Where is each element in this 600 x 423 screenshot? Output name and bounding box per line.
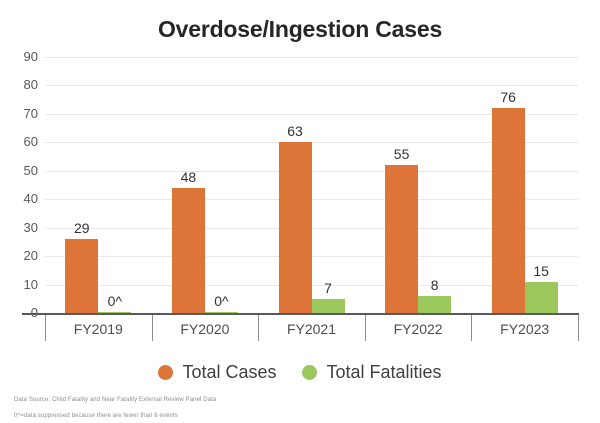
y-axis-tick-label: 10	[0, 278, 38, 291]
category-separator	[365, 315, 366, 341]
bar-total-cases-fy2020[interactable]	[172, 188, 205, 313]
category-label-fy2021: FY2021	[258, 315, 365, 343]
bar-value-label: 15	[525, 264, 558, 278]
category-separator	[152, 315, 153, 341]
legend-marker-icon	[302, 365, 317, 380]
bar-total-cases-fy2019[interactable]	[65, 239, 98, 313]
bar-value-label: 48	[172, 170, 205, 184]
overdose-ingestion-cases-chart: Overdose/Ingestion Cases 010203040506070…	[0, 0, 600, 423]
bar-value-label: 76	[492, 90, 525, 104]
legend-item-total-fatalities[interactable]: Total Fatalities	[302, 362, 441, 383]
y-axis-tick-label: 30	[0, 221, 38, 234]
category-separator	[471, 315, 472, 341]
bar-total-cases-fy2022[interactable]	[385, 165, 418, 313]
category-label-fy2019: FY2019	[45, 315, 152, 343]
gridline-90	[45, 57, 578, 58]
gridline-80	[45, 85, 578, 86]
legend-label: Total Cases	[182, 362, 276, 383]
category-separator	[258, 315, 259, 341]
y-axis-tick-label: 70	[0, 107, 38, 120]
bar-value-label: 55	[385, 147, 418, 161]
bar-value-label: 8	[418, 278, 451, 292]
y-axis-tick-label: 80	[0, 78, 38, 91]
bar-value-label: 7	[312, 281, 345, 295]
y-axis-tick-label: 20	[0, 249, 38, 262]
bar-total-fatalities-fy2022[interactable]	[418, 296, 451, 313]
category-label-fy2020: FY2020	[152, 315, 259, 343]
y-axis-tick-label: 60	[0, 135, 38, 148]
bar-total-fatalities-fy2020[interactable]	[205, 312, 238, 314]
bar-value-label: 0^	[205, 294, 238, 308]
bar-total-cases-fy2023[interactable]	[492, 108, 525, 313]
bar-value-label: 29	[65, 221, 98, 235]
bar-total-fatalities-fy2023[interactable]	[525, 282, 558, 313]
bar-total-fatalities-fy2021[interactable]	[312, 299, 345, 313]
bar-value-label: 0^	[98, 294, 131, 308]
category-separator	[578, 315, 579, 341]
bar-value-label: 63	[279, 124, 312, 138]
y-axis-tick-label: 50	[0, 164, 38, 177]
footnote-data-source: Data Source: Child Fatality and Near Fat…	[14, 397, 216, 403]
bar-total-cases-fy2021[interactable]	[279, 142, 312, 313]
category-separator	[45, 315, 46, 341]
y-axis-tick-label: 90	[0, 50, 38, 63]
chart-legend: Total CasesTotal Fatalities	[0, 362, 600, 383]
y-axis-tick-label: 40	[0, 192, 38, 205]
bar-total-fatalities-fy2019[interactable]	[98, 312, 131, 314]
legend-marker-icon	[158, 365, 173, 380]
y-axis-tick-label: 0	[0, 306, 38, 319]
legend-item-total-cases[interactable]: Total Cases	[158, 362, 276, 383]
category-label-fy2023: FY2023	[471, 315, 578, 343]
category-label-fy2022: FY2022	[365, 315, 472, 343]
footnote-suppression-note: 0^=data suppressed because there are few…	[14, 413, 178, 419]
legend-label: Total Fatalities	[326, 362, 441, 383]
chart-title: Overdose/Ingestion Cases	[0, 16, 600, 43]
